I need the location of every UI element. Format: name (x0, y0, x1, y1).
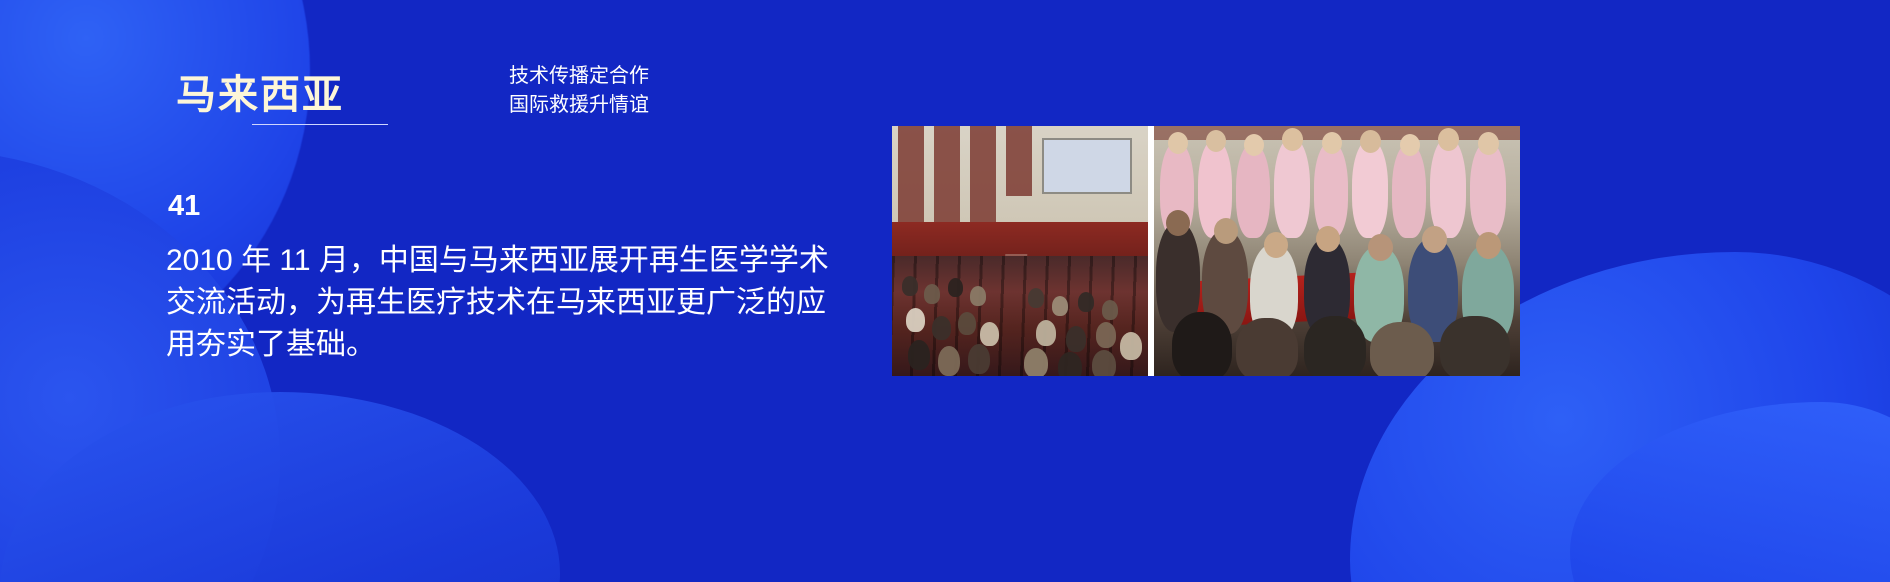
attendee-head (1316, 226, 1340, 252)
group-meeting-photo (1154, 126, 1520, 376)
attendee-foreground (1304, 316, 1366, 376)
item-number: 41 (168, 190, 200, 223)
lecture-hall-photo (892, 126, 1148, 376)
attendee-foreground (1236, 318, 1298, 376)
attendee (1274, 138, 1310, 238)
audience-member (906, 308, 925, 332)
attendee-head (1422, 226, 1447, 253)
attendee (1236, 144, 1270, 238)
audience-member (1036, 320, 1056, 346)
audience-member (1066, 326, 1086, 352)
audience-member (1058, 352, 1082, 376)
audience-member (968, 344, 990, 374)
attendee (1314, 142, 1348, 238)
attendee-head (1206, 130, 1226, 152)
photo-group (892, 126, 1520, 376)
attendee-head (1438, 128, 1459, 151)
audience-member (1092, 350, 1116, 376)
attendee-foreground (1440, 316, 1510, 376)
attendee-head (1360, 130, 1381, 153)
attendee-head (1168, 132, 1188, 154)
audience-member (932, 316, 951, 340)
attendee (1352, 140, 1388, 238)
hall-wall-stripe (934, 126, 960, 222)
attendee (1430, 138, 1466, 238)
slogan-block: 技术传播定合作 国际救援升情谊 (489, 62, 669, 120)
hall-wall-stripe (1006, 126, 1032, 196)
projection-screen (1042, 138, 1132, 194)
audience-member (1096, 322, 1116, 348)
attendee-head (1476, 232, 1501, 259)
attendee-head (1478, 132, 1499, 155)
audience-member (958, 312, 976, 335)
hall-wall-stripe (970, 126, 996, 222)
audience-member (980, 322, 999, 346)
audience-member (970, 286, 986, 306)
attendee-head (1244, 134, 1264, 156)
attendee-head (1368, 234, 1393, 261)
audience-member (1028, 288, 1044, 308)
audience-member (938, 346, 960, 376)
audience-member (1078, 292, 1094, 312)
slide-root: 马来西亚 技术传播定合作 国际救援升情谊 41 2010 年 11 月，中国与马… (0, 0, 1890, 582)
attendee-head (1214, 218, 1238, 244)
slogan-line-2: 国际救援升情谊 (489, 91, 669, 120)
attendee-head (1282, 128, 1303, 151)
audience-member (908, 340, 930, 370)
title-underline-rule (252, 124, 388, 125)
attendee-head (1166, 210, 1190, 236)
hall-wall-stripe (898, 126, 924, 222)
body-paragraph: 2010 年 11 月，中国与马来西亚展开再生医学学术交流活动，为再生医疗技术在… (166, 240, 836, 366)
attendee-foreground (1370, 322, 1434, 376)
attendee-head (1322, 132, 1342, 154)
slogan-line-1: 技术传播定合作 (489, 62, 669, 91)
audience-member (1120, 332, 1142, 360)
audience-member (902, 276, 918, 296)
audience-member (1102, 300, 1118, 320)
attendee-head (1400, 134, 1420, 156)
attendee-head (1264, 232, 1288, 258)
attendee (1392, 144, 1426, 238)
attendee-foreground (1172, 312, 1232, 376)
audience-member (1024, 348, 1048, 376)
audience-member (924, 284, 940, 304)
audience-member (948, 278, 963, 297)
page-title: 马来西亚 (176, 62, 344, 120)
attendee (1470, 142, 1506, 238)
audience-member (1052, 296, 1068, 316)
